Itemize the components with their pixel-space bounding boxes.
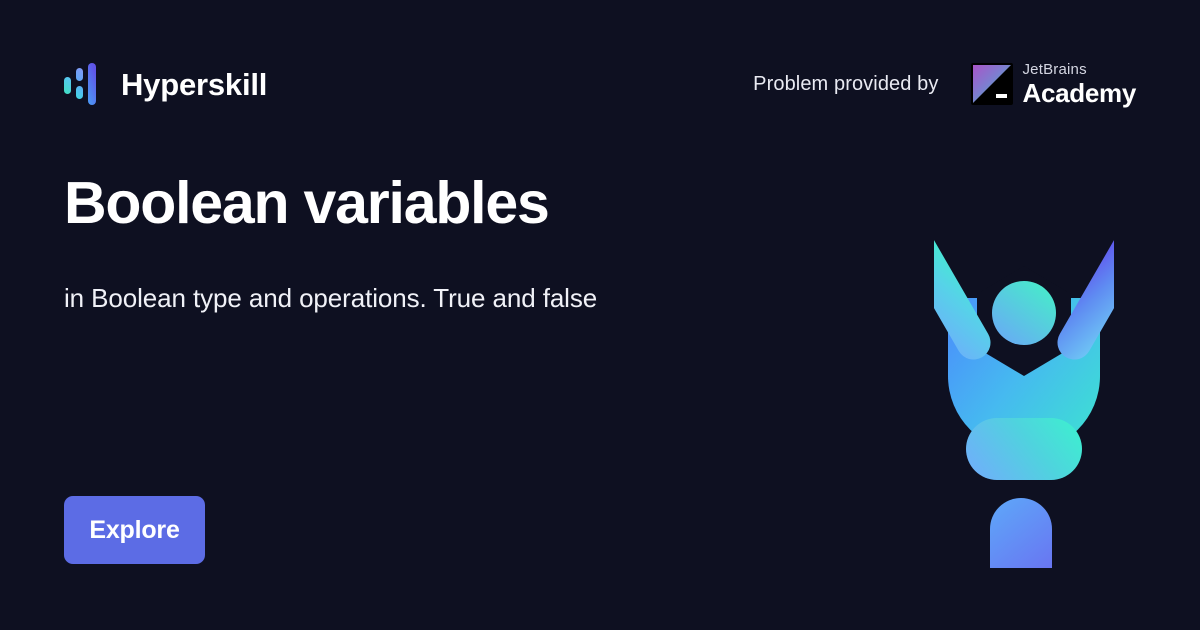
page-subtitle: in Boolean type and operations. True and… [64,282,884,316]
academy-label: Academy [1022,80,1136,106]
jetbrains-label: JetBrains [1022,62,1086,77]
hyperskill-brand-name: Hyperskill [121,69,267,100]
inner-circle [992,281,1056,345]
jetbrains-square-icon [971,63,1013,105]
provider-label: Problem provided by [753,73,938,96]
provider-attribution: Problem provided by [753,62,1136,106]
hyperskill-torch-emblem-icon [934,178,1114,568]
vertical-bar [990,498,1052,568]
main-content: Boolean variables in Boolean type and op… [64,168,884,316]
explore-button[interactable]: Explore [64,496,205,564]
horizontal-pill [966,418,1082,480]
header: Hyperskill Problem provided by [0,0,1200,168]
promo-card: Hyperskill Problem provided by [0,0,1200,630]
jetbrains-academy-wordmark: JetBrains Academy [1022,62,1136,106]
page-title: Boolean variables [64,172,884,236]
hyperskill-brand[interactable]: Hyperskill [64,62,267,106]
jetbrains-academy-logo[interactable]: JetBrains Academy [971,62,1136,106]
hyperskill-bars-icon [64,62,104,106]
